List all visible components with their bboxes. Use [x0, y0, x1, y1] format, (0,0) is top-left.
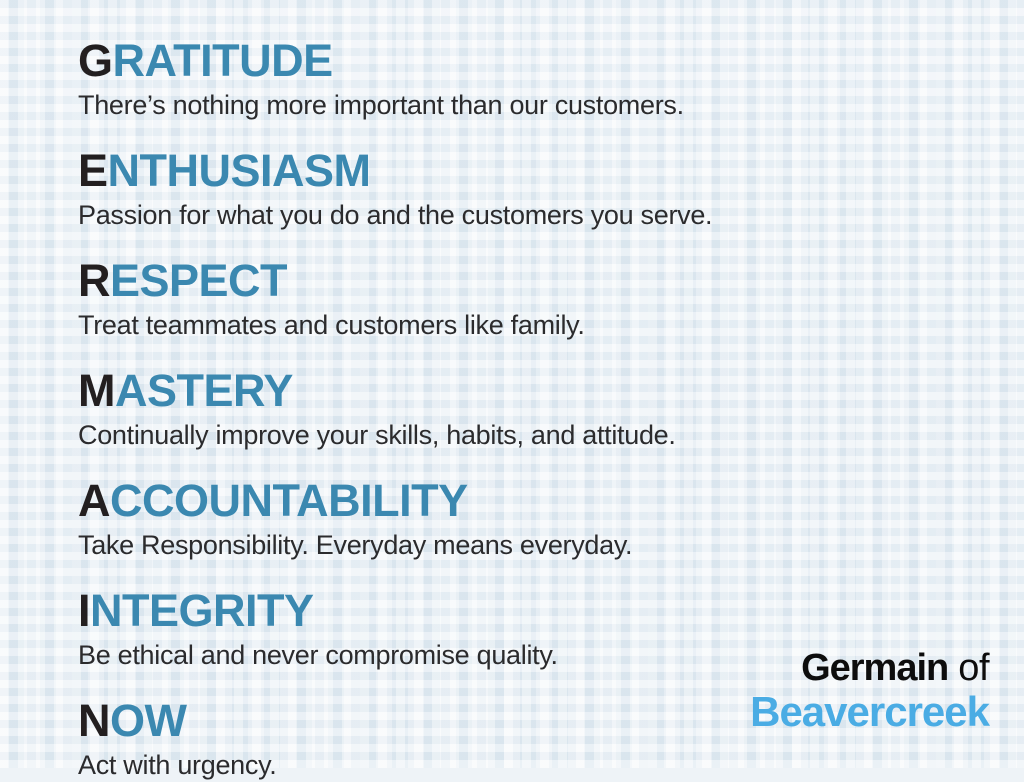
- value-heading-remainder: NTHUSIASM: [108, 145, 371, 196]
- value-block-gratitude: GRATITUDE There’s nothing more important…: [78, 36, 1024, 122]
- logo-connector-word: of: [948, 647, 989, 689]
- value-heading-remainder: CCOUNTABILITY: [110, 475, 468, 526]
- value-block-respect: RESPECT Treat teammates and customers li…: [78, 256, 1024, 342]
- value-heading-enthusiasm: ENTHUSIASM: [78, 146, 1024, 196]
- value-heading-remainder: RATITUDE: [113, 35, 333, 86]
- value-initial-letter: E: [78, 145, 108, 196]
- value-description-now: Act with urgency.: [78, 748, 1024, 782]
- value-heading-remainder: ASTERY: [115, 365, 293, 416]
- value-block-mastery: MASTERY Continually improve your skills,…: [78, 366, 1024, 452]
- logo-primary-line: Germain of: [750, 647, 989, 689]
- value-heading-mastery: MASTERY: [78, 366, 1024, 416]
- value-block-accountability: ACCOUNTABILITY Take Responsibility. Ever…: [78, 476, 1024, 562]
- value-heading-remainder: NTEGRITY: [90, 585, 314, 636]
- value-heading-integrity: INTEGRITY: [78, 586, 1024, 636]
- value-block-enthusiasm: ENTHUSIASM Passion for what you do and t…: [78, 146, 1024, 232]
- logo-brand-name: Germain: [801, 647, 948, 689]
- value-heading-gratitude: GRATITUDE: [78, 36, 1024, 86]
- value-heading-accountability: ACCOUNTABILITY: [78, 476, 1024, 526]
- value-initial-letter: M: [78, 365, 115, 416]
- value-description-accountability: Take Responsibility. Everyday means ever…: [78, 528, 1024, 562]
- value-initial-letter: R: [78, 255, 110, 306]
- value-initial-letter: A: [78, 475, 110, 526]
- value-initial-letter: I: [78, 585, 90, 636]
- value-heading-remainder: OW: [110, 695, 186, 746]
- values-poster: GRATITUDE There’s nothing more important…: [0, 0, 1024, 768]
- value-description-gratitude: There’s nothing more important than our …: [78, 88, 1024, 122]
- value-heading-respect: RESPECT: [78, 256, 1024, 306]
- value-initial-letter: N: [78, 695, 110, 746]
- value-heading-remainder: ESPECT: [110, 255, 287, 306]
- value-description-respect: Treat teammates and customers like famil…: [78, 308, 1024, 342]
- value-description-enthusiasm: Passion for what you do and the customer…: [78, 198, 1024, 232]
- value-initial-letter: G: [78, 35, 113, 86]
- logo-location-name: Beavercreek: [750, 689, 989, 735]
- value-description-mastery: Continually improve your skills, habits,…: [78, 418, 1024, 452]
- dealership-logo: Germain of Beavercreek: [750, 647, 989, 735]
